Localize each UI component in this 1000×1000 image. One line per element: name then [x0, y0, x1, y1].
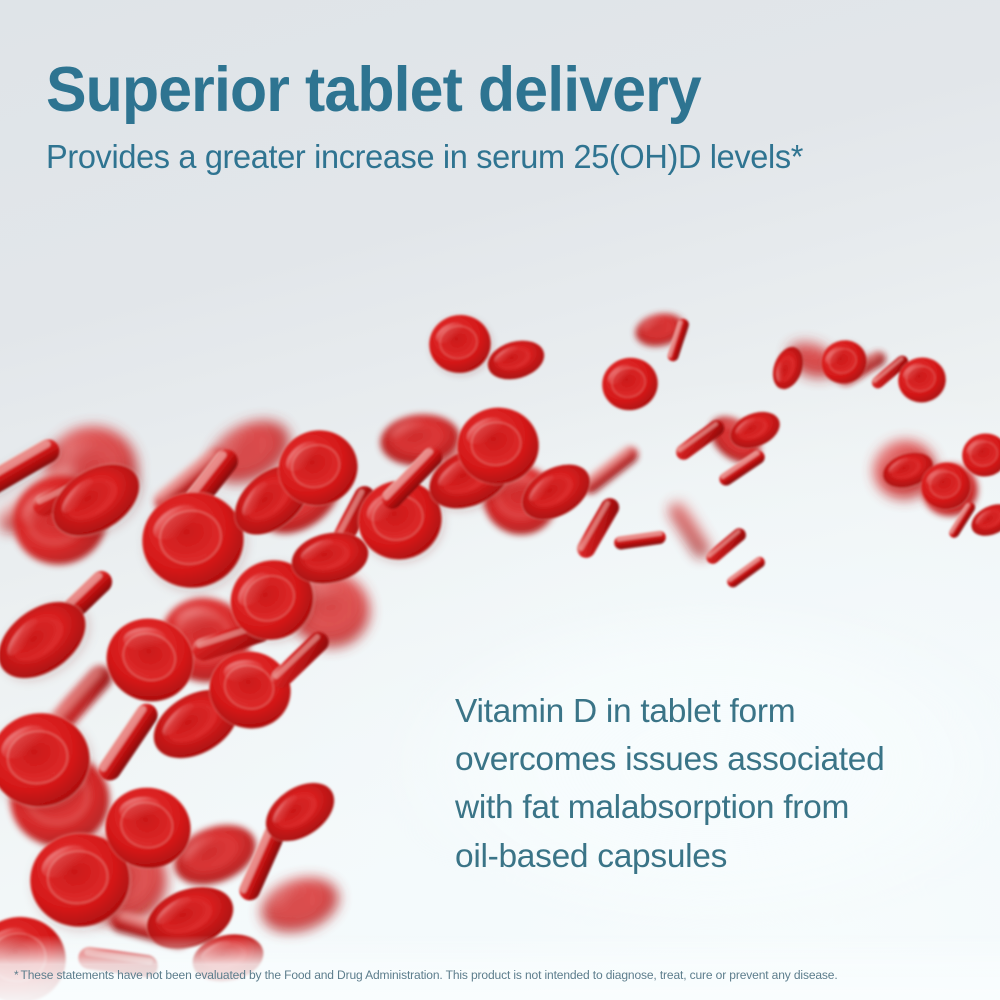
body-copy-line-1: Vitamin D in tablet form	[455, 688, 955, 736]
poster-canvas: Superior tablet delivery Provides a grea…	[0, 0, 1000, 1000]
disclaimer-text: These statements have not been evaluated…	[21, 968, 838, 982]
body-copy-line-3: with fat malabsorption from	[455, 784, 955, 832]
page-subtitle: Provides a greater increase in serum 25(…	[46, 138, 803, 178]
page-title: Superior tablet delivery	[46, 58, 701, 124]
body-copy-line-2: overcomes issues associated	[455, 736, 955, 784]
fda-disclaimer: *These statements have not been evaluate…	[14, 968, 995, 982]
body-copy-line-4: oil-based capsules	[455, 833, 955, 881]
body-copy: Vitamin D in tablet form overcomes issue…	[455, 688, 955, 881]
disclaimer-asterisk: *	[14, 968, 19, 982]
